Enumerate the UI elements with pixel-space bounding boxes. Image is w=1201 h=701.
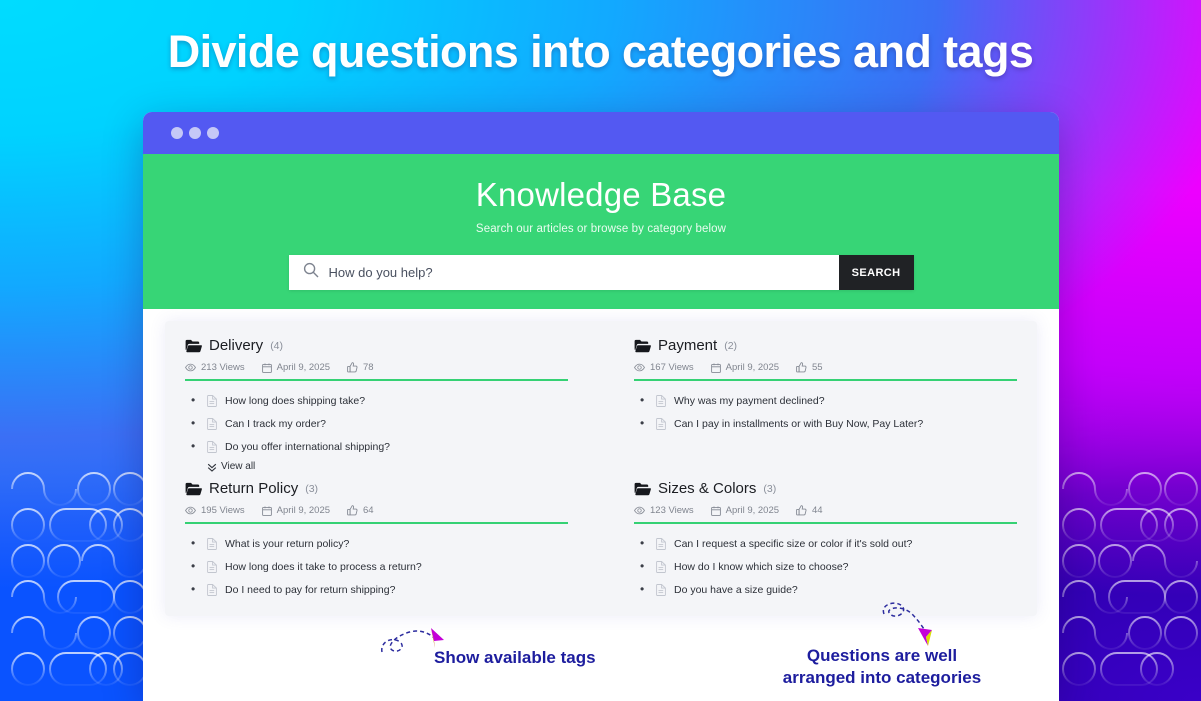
eye-icon (634, 506, 645, 515)
document-icon (656, 395, 666, 407)
category-date: April 9, 2025 (726, 505, 779, 516)
category-count: (4) (270, 340, 283, 352)
browser-dot-close[interactable] (171, 127, 183, 139)
calendar-icon (711, 506, 721, 516)
search-icon (303, 262, 319, 283)
article-title: How long does it take to process a retur… (225, 561, 422, 573)
document-icon (207, 584, 217, 596)
document-icon (656, 584, 666, 596)
thumbs-up-icon (796, 362, 807, 373)
category-name: Payment (658, 337, 717, 354)
category-header[interactable]: Payment(2) (634, 337, 1017, 354)
category-block: Sizes & Colors(3)123 ViewsApril 9, 20254… (634, 480, 1017, 607)
article-list: Can I request a specific size or color i… (634, 538, 1017, 596)
category-views: 167 Views (650, 362, 694, 373)
thumbs-up-icon (347, 505, 358, 516)
search-button[interactable]: SEARCH (839, 255, 914, 290)
category-count: (2) (724, 340, 737, 352)
page-title: Divide questions into categories and tag… (0, 26, 1201, 78)
document-icon (656, 561, 666, 573)
document-icon (207, 441, 217, 453)
category-name: Return Policy (209, 480, 298, 497)
calendar-icon (262, 506, 272, 516)
annotation-line-1: Questions are well (760, 645, 1004, 667)
eye-icon (634, 363, 645, 372)
eye-icon (185, 363, 196, 372)
category-header[interactable]: Delivery(4) (185, 337, 568, 354)
category-likes: 55 (812, 362, 823, 373)
article-list: How long does shipping take?Can I track … (185, 395, 568, 453)
category-name: Sizes & Colors (658, 480, 756, 497)
category-meta: 167 ViewsApril 9, 202555 (634, 362, 1017, 373)
document-icon (656, 538, 666, 550)
category-count: (3) (763, 483, 776, 495)
knowledge-base-title: Knowledge Base (476, 176, 726, 214)
thumbs-up-icon (796, 505, 807, 516)
article-title: Why was my payment declined? (674, 395, 825, 407)
article-title: Do you have a size guide? (674, 584, 798, 596)
search-bar: SEARCH (289, 255, 914, 290)
article-item[interactable]: Can I pay in installments or with Buy No… (634, 418, 1017, 430)
article-title: How do I know which size to choose? (674, 561, 849, 573)
browser-dot-maximize[interactable] (207, 127, 219, 139)
category-likes: 44 (812, 505, 823, 516)
article-list: What is your return policy?How long does… (185, 538, 568, 596)
category-likes: 64 (363, 505, 374, 516)
article-item[interactable]: Why was my payment declined? (634, 395, 1017, 407)
category-date: April 9, 2025 (277, 362, 330, 373)
article-item[interactable]: Do I need to pay for return shipping? (185, 584, 568, 596)
article-item[interactable]: Do you offer international shipping? (185, 441, 568, 453)
article-item[interactable]: Can I track my order? (185, 418, 568, 430)
category-divider (185, 522, 568, 524)
category-name: Delivery (209, 337, 263, 354)
category-block: Delivery(4)213 ViewsApril 9, 202578How l… (185, 337, 568, 472)
article-title: Can I request a specific size or color i… (674, 538, 912, 550)
category-header[interactable]: Return Policy(3) (185, 480, 568, 497)
double-chevron-down-icon (207, 462, 217, 472)
calendar-icon (262, 363, 272, 373)
article-item[interactable]: Do you have a size guide? (634, 584, 1017, 596)
article-list: Why was my payment declined?Can I pay in… (634, 395, 1017, 430)
browser-dot-minimize[interactable] (189, 127, 201, 139)
document-icon (207, 538, 217, 550)
folder-open-icon (185, 339, 202, 353)
category-date: April 9, 2025 (277, 505, 330, 516)
category-meta: 123 ViewsApril 9, 202544 (634, 505, 1017, 516)
article-item[interactable]: How long does shipping take? (185, 395, 568, 407)
category-likes: 78 (363, 362, 374, 373)
browser-titlebar (143, 112, 1059, 154)
article-item[interactable]: What is your return policy? (185, 538, 568, 550)
search-input[interactable] (329, 265, 825, 280)
category-views: 123 Views (650, 505, 694, 516)
hero-section: Knowledge Base Search our articles or br… (143, 154, 1059, 309)
article-title: Do I need to pay for return shipping? (225, 584, 395, 596)
categories-container: Delivery(4)213 ViewsApril 9, 202578How l… (165, 321, 1037, 616)
document-icon (207, 418, 217, 430)
category-views: 213 Views (201, 362, 245, 373)
category-block: Return Policy(3)195 ViewsApril 9, 202564… (185, 480, 568, 607)
annotation-show-available-tags: Show available tags (434, 648, 596, 668)
view-all-label: View all (221, 461, 255, 472)
category-count: (3) (305, 483, 318, 495)
category-divider (634, 522, 1017, 524)
folder-open-icon (185, 482, 202, 496)
category-meta: 213 ViewsApril 9, 202578 (185, 362, 568, 373)
article-title: How long does shipping take? (225, 395, 365, 407)
knowledge-base-subtitle: Search our articles or browse by categor… (476, 223, 726, 235)
category-meta: 195 ViewsApril 9, 202564 (185, 505, 568, 516)
category-divider (185, 379, 568, 381)
category-divider (634, 379, 1017, 381)
folder-open-icon (634, 339, 651, 353)
search-field[interactable] (289, 255, 839, 290)
article-item[interactable]: How do I know which size to choose? (634, 561, 1017, 573)
category-header[interactable]: Sizes & Colors(3) (634, 480, 1017, 497)
article-item[interactable]: Can I request a specific size or color i… (634, 538, 1017, 550)
category-date: April 9, 2025 (726, 362, 779, 373)
thumbs-up-icon (347, 362, 358, 373)
category-views: 195 Views (201, 505, 245, 516)
article-title: What is your return policy? (225, 538, 349, 550)
folder-open-icon (634, 482, 651, 496)
document-icon (656, 418, 666, 430)
category-block: Payment(2)167 ViewsApril 9, 202555Why wa… (634, 337, 1017, 472)
view-all-link[interactable]: View all (185, 461, 568, 472)
article-title: Can I pay in installments or with Buy No… (674, 418, 923, 430)
article-title: Do you offer international shipping? (225, 441, 390, 453)
article-item[interactable]: How long does it take to process a retur… (185, 561, 568, 573)
annotation-line-2: arranged into categories (760, 667, 1004, 689)
decorative-pattern-right (1055, 465, 1201, 701)
calendar-icon (711, 363, 721, 373)
article-title: Can I track my order? (225, 418, 326, 430)
document-icon (207, 395, 217, 407)
document-icon (207, 561, 217, 573)
eye-icon (185, 506, 196, 515)
annotation-questions-arranged: Questions are well arranged into categor… (760, 645, 1004, 690)
decorative-pattern-left (0, 465, 146, 701)
